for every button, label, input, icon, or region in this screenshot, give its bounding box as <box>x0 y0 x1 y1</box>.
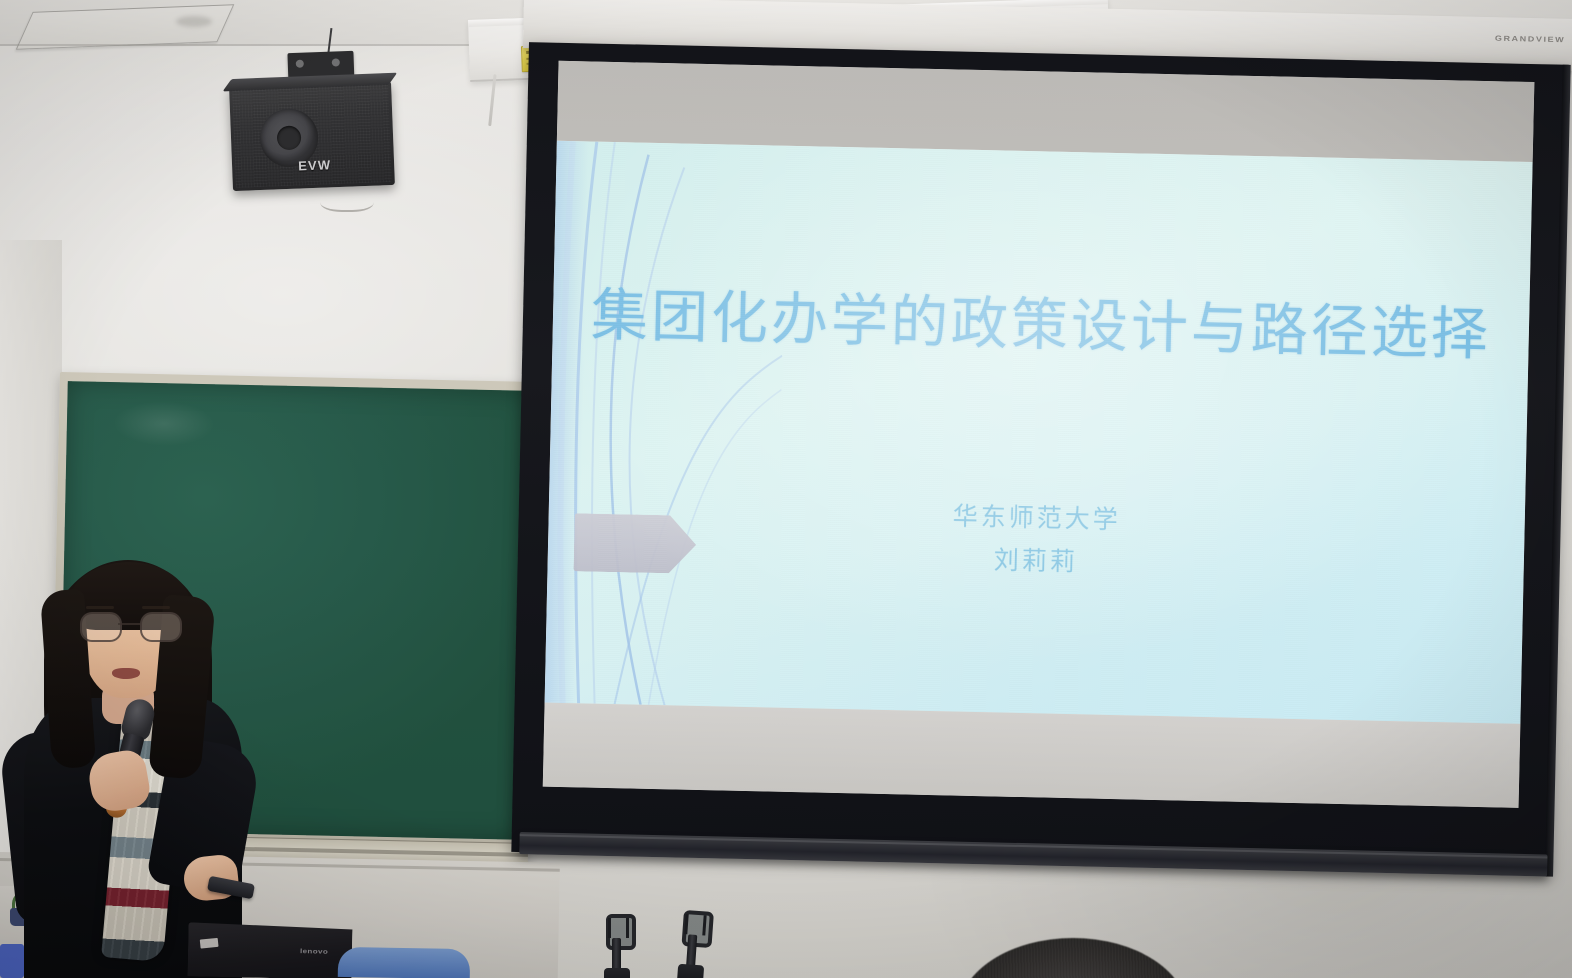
chalk-smudge <box>113 400 216 447</box>
laptop-brand-label: lenovo <box>300 948 328 956</box>
speaker-wire <box>320 188 374 212</box>
microphone-stand-neck <box>612 938 621 972</box>
eyebrow-right <box>142 606 170 609</box>
lens-left <box>80 612 122 642</box>
wall-speaker: EVW <box>229 81 395 191</box>
presentation-slide: 集团化办学的政策设计与路径选择 华东师范大学 刘莉莉 <box>545 141 1533 724</box>
microphone-stand-base <box>604 968 630 978</box>
microphone-stand-base <box>677 964 705 978</box>
slide-title: 集团化办学的政策设计与路径选择 <box>552 269 1530 372</box>
laptop-sticker <box>200 938 219 949</box>
projection-screen-assembly: GRANDVIEW 集团化办学的政策设计与路径选择 <box>505 0 1572 899</box>
projector-hotspot <box>545 141 1533 724</box>
eyebrow-left <box>86 606 114 609</box>
laptop: lenovo <box>187 922 352 978</box>
slide-subtitle: 华东师范大学 刘莉莉 <box>547 486 1525 593</box>
screen-surface: 集团化办学的政策设计与路径选择 华东师范大学 刘莉莉 <box>543 61 1535 808</box>
presenter <box>6 556 256 978</box>
glasses-bridge <box>118 623 140 625</box>
office-chair <box>338 947 471 978</box>
lens-right <box>140 612 182 642</box>
classroom-photo-scene: EVW GRANDVIEW <box>0 0 1572 978</box>
microphone-clip-inner <box>684 914 706 935</box>
ceiling-smudge <box>176 16 212 27</box>
speaker-brand-label: EVW <box>298 157 332 173</box>
mouth <box>112 668 140 679</box>
glasses-icon <box>80 612 178 638</box>
microphone-clip-inner <box>608 918 629 938</box>
slide-noise-overlay <box>545 141 1533 724</box>
screen-brand-label: GRANDVIEW <box>1495 34 1566 44</box>
